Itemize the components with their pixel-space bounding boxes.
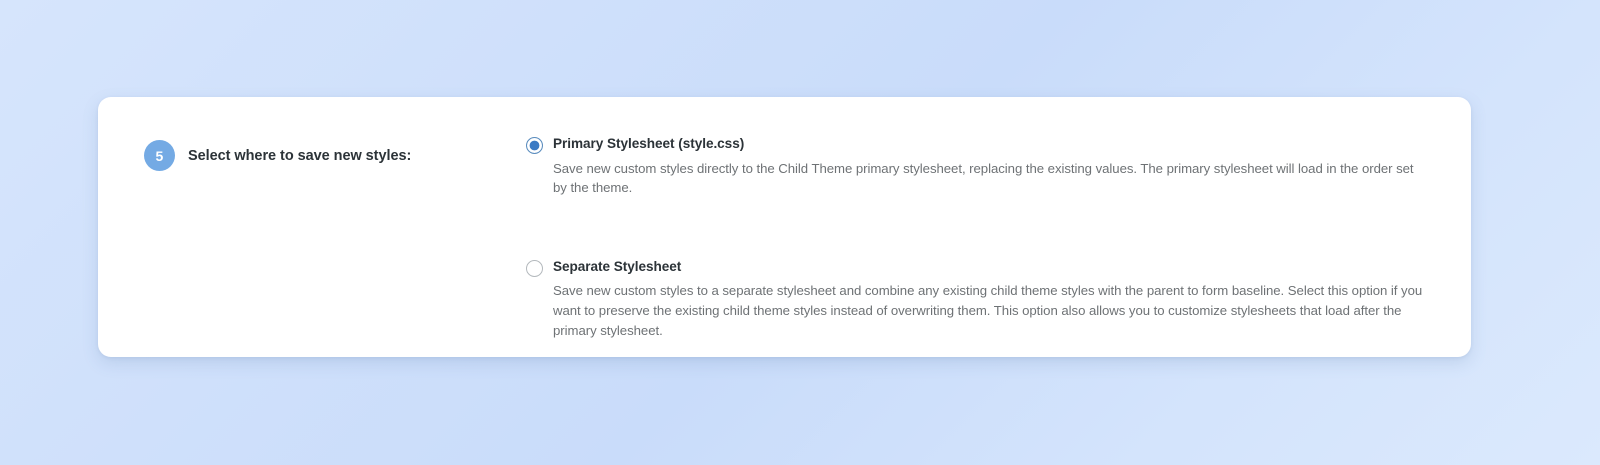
card-content: 5 Select where to save new styles: Prima…	[98, 97, 1471, 357]
stylesheet-option-group: Primary Stylesheet (style.css) Save new …	[526, 134, 1424, 340]
option-separate-stylesheet-description: Save new custom styles to a separate sty…	[553, 281, 1424, 340]
option-primary-stylesheet-description: Save new custom styles directly to the C…	[553, 159, 1424, 198]
option-primary-stylesheet[interactable]: Primary Stylesheet (style.css) Save new …	[526, 134, 1424, 198]
radio-separate-stylesheet-icon[interactable]	[526, 260, 543, 277]
option-primary-stylesheet-label[interactable]: Primary Stylesheet (style.css)	[553, 134, 1424, 154]
page-root: 5 Select where to save new styles: Prima…	[0, 0, 1600, 465]
step-heading: 5 Select where to save new styles:	[144, 140, 411, 171]
radio-primary-stylesheet-icon[interactable]	[526, 137, 543, 154]
settings-card: 5 Select where to save new styles: Prima…	[98, 97, 1471, 357]
step-title-label: Select where to save new styles:	[188, 148, 411, 164]
option-separate-stylesheet[interactable]: Separate Stylesheet Save new custom styl…	[526, 257, 1424, 340]
option-separate-stylesheet-label[interactable]: Separate Stylesheet	[553, 257, 1424, 277]
step-number-badge: 5	[144, 140, 175, 171]
